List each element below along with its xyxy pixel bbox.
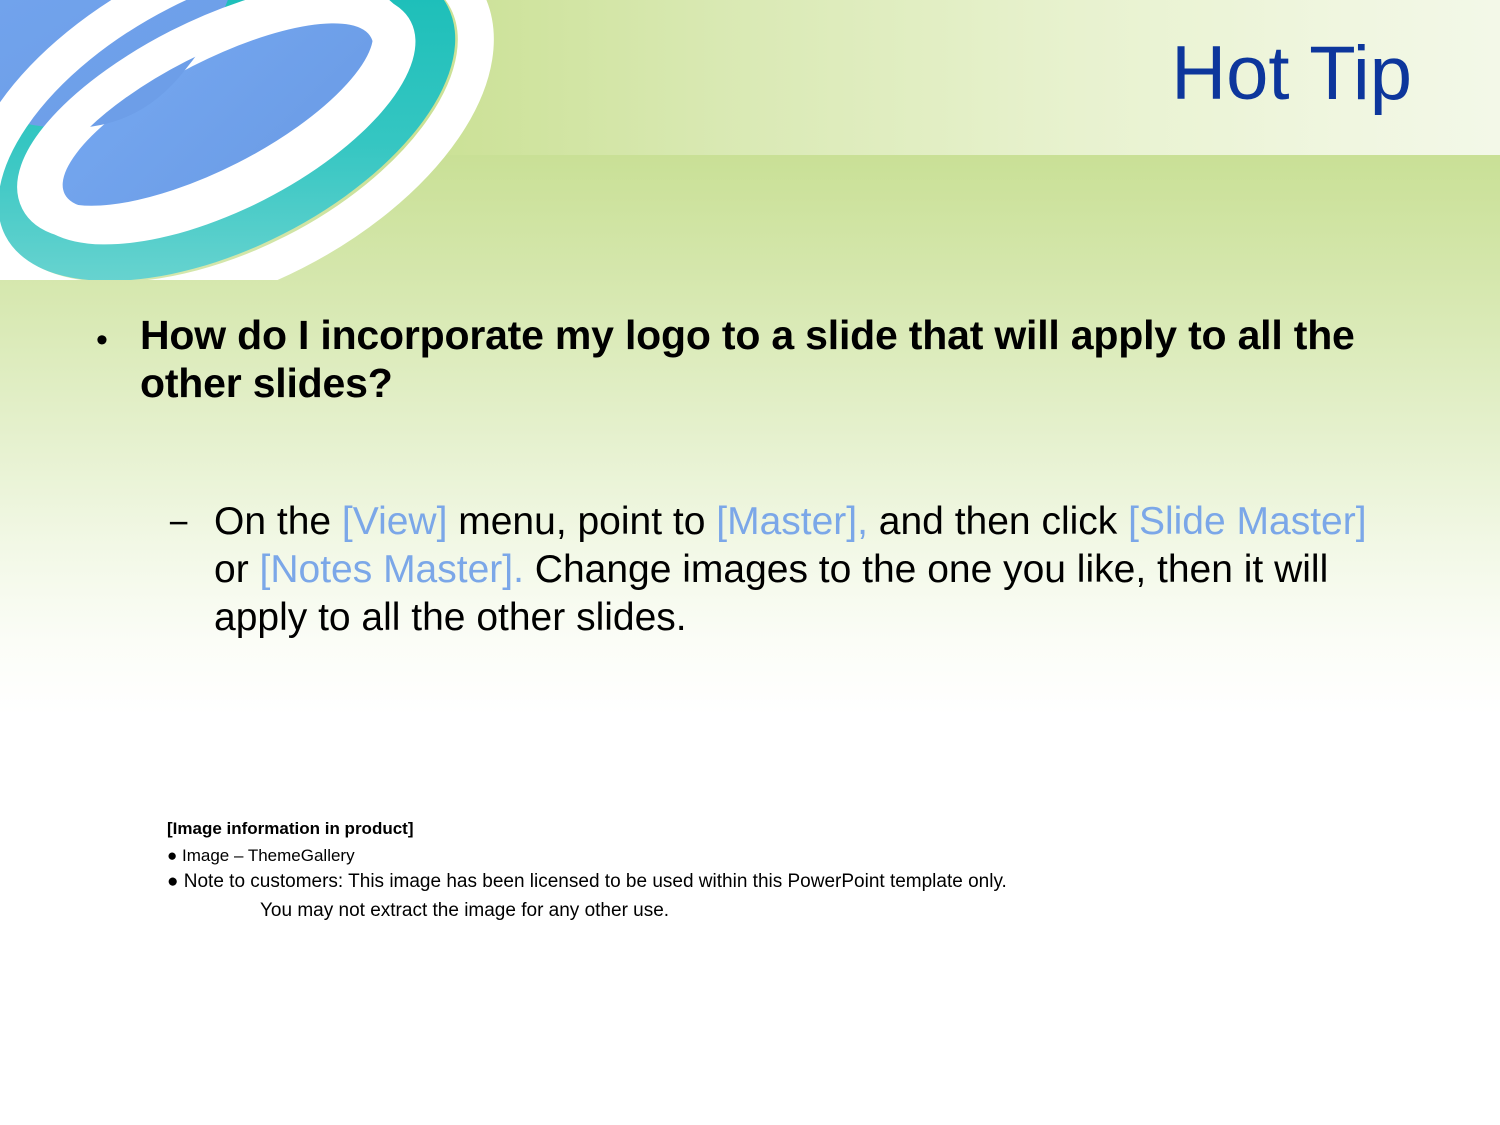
bullet-level2-run-5: [Slide Master] <box>1128 500 1366 543</box>
bullet-level2-run-2: menu, point to <box>447 500 716 543</box>
bullet-level1-marker: • <box>88 312 140 368</box>
note-line-customer-notice: ● Note to customers: This image has been… <box>167 868 1367 897</box>
bullet-level2-text: On the [View] menu, point to [Master], a… <box>214 498 1408 642</box>
bullet-level1: • How do I incorporate my logo to a slid… <box>88 312 1418 408</box>
note-line-customer-notice-continued: You may not extract the image for any ot… <box>167 897 1367 926</box>
slide-body: • How do I incorporate my logo to a slid… <box>0 0 1500 1125</box>
bullet-level2-run-0: On the <box>214 500 342 543</box>
bullet-level2-run-6: or <box>214 548 260 591</box>
bullet-level2-run-3: [Master], <box>716 500 868 543</box>
bullet-level1-text: How do I incorporate my logo to a slide … <box>140 312 1418 408</box>
note-line-image-source: ● Image – ThemeGallery <box>167 843 1367 869</box>
bullet-level2-run-1: [View] <box>342 500 448 543</box>
bullet-level2-run-7: [Notes Master]. <box>260 548 524 591</box>
image-information-note: [Image information in product] ● Image –… <box>167 817 1367 925</box>
bullet-level2: − On the [View] menu, point to [Master],… <box>168 498 1408 642</box>
note-heading: [Image information in product] <box>167 817 1367 842</box>
bullet-level2-marker: − <box>168 498 214 548</box>
slide-canvas: Hot Tip • How do I incorporate my logo t… <box>0 0 1500 1125</box>
bullet-level2-run-4: and then click <box>868 500 1128 543</box>
